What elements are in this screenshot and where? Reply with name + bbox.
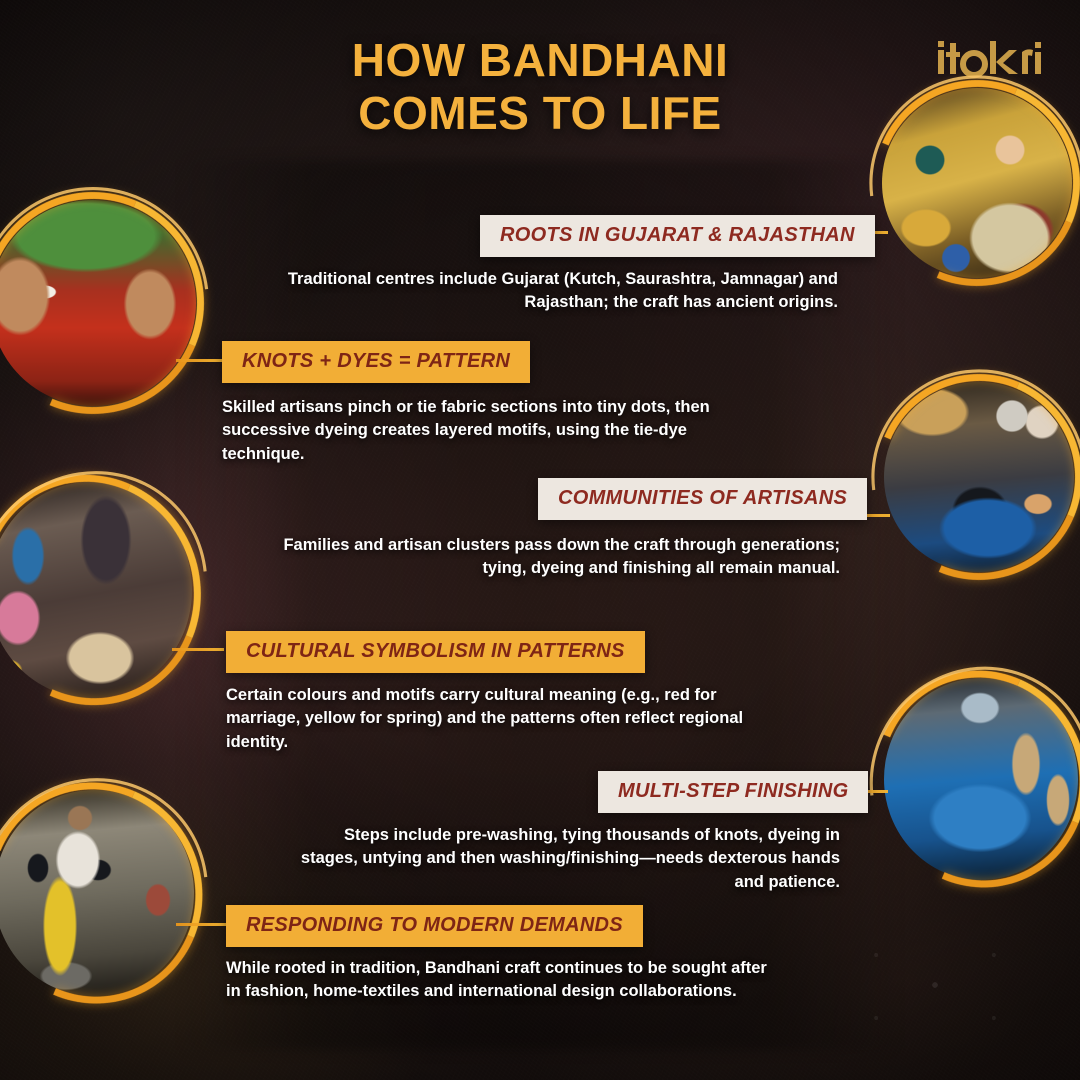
section-heading-communities-label: COMMUNITIES OF ARTISANS	[558, 487, 847, 510]
section-body-finishing: Steps include pre-washing, tying thousan…	[300, 824, 840, 894]
section-heading-symbolism: CULTURAL SYMBOLISM IN PATTERNS	[226, 631, 645, 673]
section-heading-roots: ROOTS IN GUJARAT & RAJASTHAN	[480, 215, 875, 257]
section-body-symbolism: Certain colours and motifs carry cultura…	[226, 684, 766, 754]
connector-line-knots	[176, 359, 222, 362]
section-body-roots: Traditional centres include Gujarat (Kut…	[250, 268, 838, 315]
section-body-communities: Families and artisan clusters pass down …	[248, 534, 840, 581]
section-heading-knots-label: KNOTS + DYES = PATTERN	[242, 350, 510, 373]
section-heading-symbolism-label: CULTURAL SYMBOLISM IN PATTERNS	[246, 640, 625, 663]
section-heading-finishing-label: MULTI-STEP FINISHING	[618, 780, 848, 803]
section-heading-modern: RESPONDING TO MODERN DEMANDS	[226, 905, 643, 947]
connector-line-symbolism	[172, 648, 224, 651]
photo-women-tying-top-right	[882, 88, 1072, 278]
connector-line-modern	[176, 923, 226, 926]
photo-hands-red-fabric	[0, 200, 196, 406]
section-heading-knots: KNOTS + DYES = PATTERN	[222, 341, 530, 383]
fabric-motif-decoration	[830, 910, 1040, 1060]
section-heading-roots-label: ROOTS IN GUJARAT & RAJASTHAN	[500, 224, 855, 247]
section-body-modern: While rooted in tradition, Bandhani craf…	[226, 957, 782, 1004]
photo-dyer-blue-tub	[884, 382, 1074, 572]
itokri-logo[interactable]	[934, 38, 1044, 82]
infographic-canvas: HOW BANDHANI COMES TO LIFE	[0, 0, 1080, 1080]
photo-dyer-yellow-fabric	[0, 790, 194, 996]
page-title-line-1: HOW BANDHANI	[0, 34, 1080, 87]
photo-blue-dye-vat	[884, 678, 1078, 880]
photo-woman-cream-fabric	[0, 482, 192, 698]
section-heading-communities: COMMUNITIES OF ARTISANS	[538, 478, 867, 520]
section-heading-modern-label: RESPONDING TO MODERN DEMANDS	[246, 914, 623, 937]
section-body-knots: Skilled artisans pinch or tie fabric sec…	[222, 396, 762, 466]
section-heading-finishing: MULTI-STEP FINISHING	[598, 771, 868, 813]
